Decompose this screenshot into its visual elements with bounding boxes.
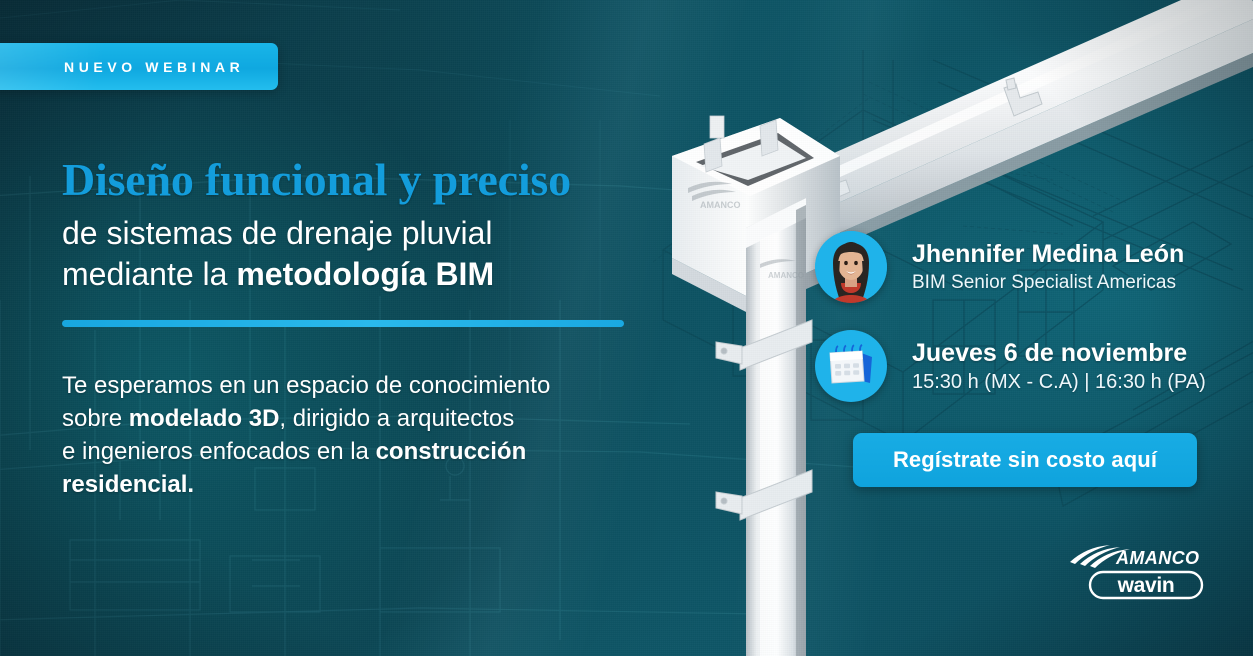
headline-line3-bold: metodología BIM [236,256,494,292]
headline-divider [62,320,624,327]
body-line4-bold: residencial. [62,471,194,498]
register-button[interactable]: Regístrate sin costo aquí [853,433,1197,487]
headline-line3-plain: mediante la [62,256,236,292]
headline-block: Diseño funcional y preciso de sistemas d… [62,156,702,295]
body-line3-bold: construcción [376,438,527,465]
body-line2-bold: modelado 3D [129,405,280,432]
body-line2-pre: sobre [62,405,129,432]
speaker-text: Jhennifer Medina León BIM Senior Special… [912,240,1184,293]
speaker-portrait-icon [815,231,887,303]
date-block: Jueves 6 de noviembre 15:30 h (MX - C.A)… [815,330,1206,402]
svg-text:AMANCO: AMANCO [700,200,741,210]
svg-text:wavin: wavin [1117,574,1175,597]
amanco-wavin-logo: AMANCO wavin [1068,542,1208,604]
headline-primary: Diseño funcional y preciso [62,156,702,205]
svg-text:AMANCO: AMANCO [768,271,804,280]
date-text: Jueves 6 de noviembre 15:30 h (MX - C.A)… [912,339,1206,393]
body-line2-post: , dirigido a arquitectos [279,405,514,432]
headline-line2: de sistemas de drenaje pluvial [62,215,492,251]
webinar-banner: AMANCO AMANCO [0,0,1253,656]
headline-secondary: de sistemas de drenaje pluvial mediante … [62,213,702,295]
svg-text:AMANCO: AMANCO [1115,548,1199,568]
body-paragraph: Te esperamos en un espacio de conocimien… [62,370,602,502]
body-line1: Te esperamos en un espacio de conocimien… [62,372,550,399]
new-webinar-badge-label: NUEVO WEBINAR [64,59,244,75]
speaker-name: Jhennifer Medina León [912,240,1184,268]
new-webinar-badge: NUEVO WEBINAR [0,43,278,90]
date-day: Jueves 6 de noviembre [912,339,1206,367]
speaker-block: Jhennifer Medina León BIM Senior Special… [815,231,1184,303]
calendar-icon [815,330,887,402]
speaker-role: BIM Senior Specialist Americas [912,272,1184,293]
body-line3-pre: e ingenieros enfocados en la [62,438,376,465]
date-times: 15:30 h (MX - C.A) | 16:30 h (PA) [912,371,1206,393]
